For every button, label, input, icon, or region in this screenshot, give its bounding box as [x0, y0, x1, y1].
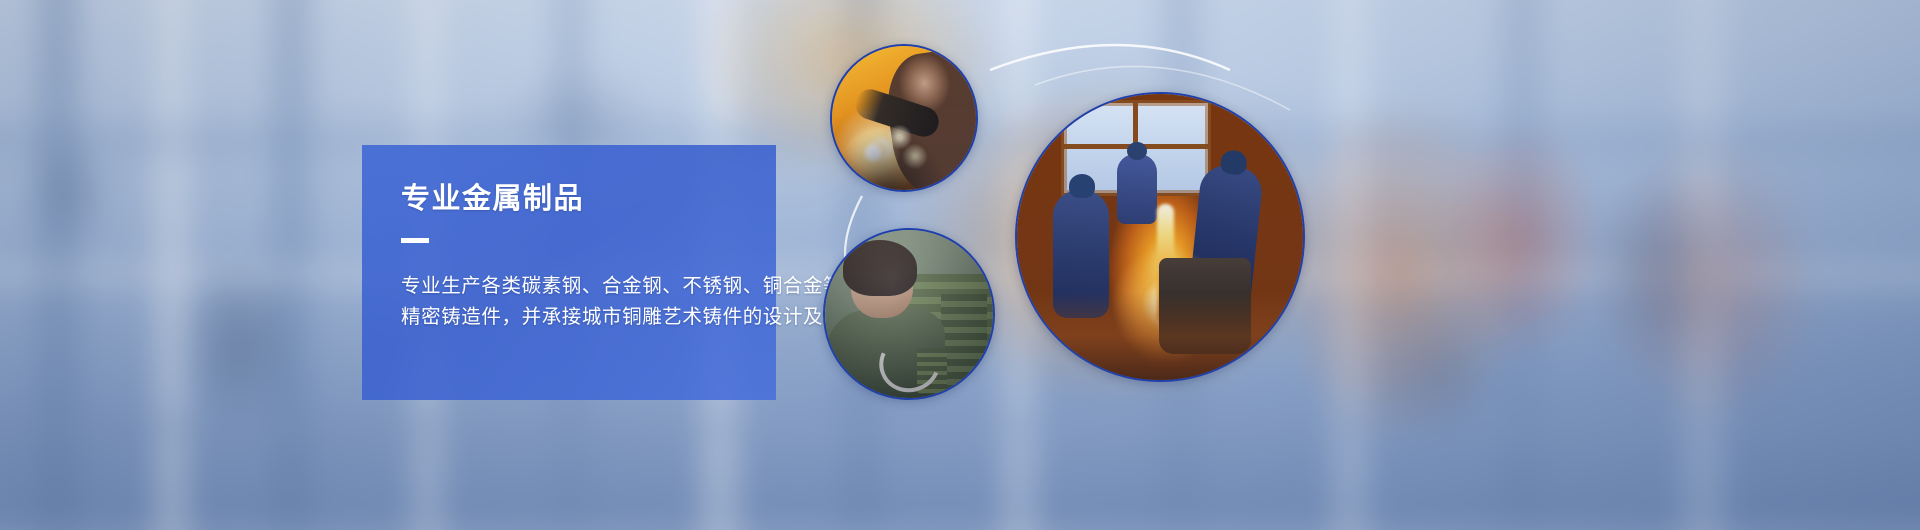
welding-photo-shadow — [830, 130, 948, 192]
foundry-pour-photo — [1015, 92, 1305, 382]
hero-banner: 专业金属制品 专业生产各类碳素钢、合金钢、不锈钢、铜合金等 精密铸造件，并承接城… — [0, 0, 1920, 530]
assembly-photo-art — [825, 230, 993, 398]
welding-photo-art — [832, 46, 976, 190]
foundry-photo-art — [1017, 94, 1303, 380]
assembly-worker-photo — [823, 228, 995, 400]
photo-collage — [0, 0, 1920, 530]
foundry-worker-background — [1117, 154, 1157, 224]
welding-sparks-photo — [830, 44, 978, 192]
assembly-photo-shading — [825, 230, 993, 398]
foundry-floor-shadow — [1017, 292, 1303, 380]
